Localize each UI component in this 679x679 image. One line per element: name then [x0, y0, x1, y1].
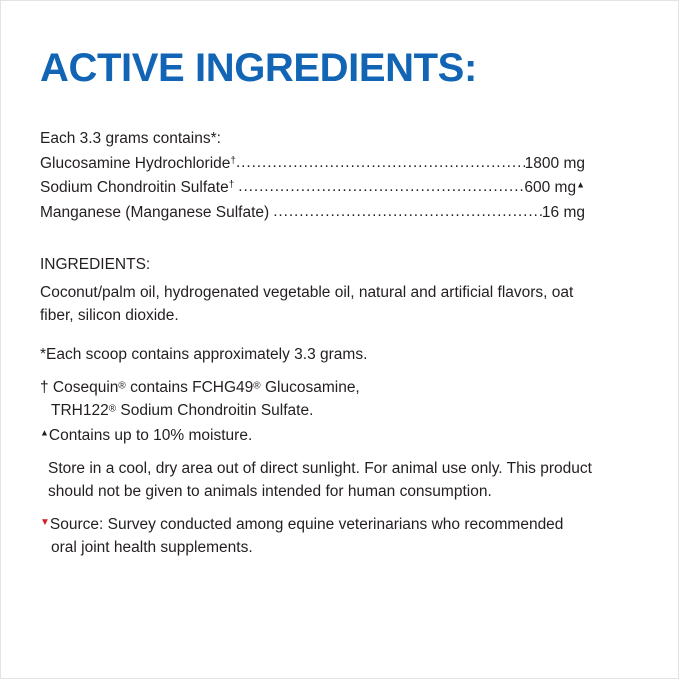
ingredient-amount: 16 mg	[542, 201, 585, 226]
source-footnote: ▼Source: Survey conducted among equine v…	[40, 513, 606, 559]
ingredients-heading: INGREDIENTS:	[40, 253, 610, 276]
footnote-cosequin: † Cosequin® contains FCHG49® Glucosamine…	[40, 376, 610, 422]
ingredient-name: Manganese (Manganese Sulfate)	[40, 201, 269, 226]
registered-icon: ®	[109, 404, 116, 415]
table-row: Sodium Chondroitin Sulfate† ............…	[40, 176, 585, 201]
storage-statement: Store in a cool, dry area out of direct …	[40, 457, 614, 503]
triangle-down-icon: ▼	[40, 517, 50, 528]
footnote-moisture: ▲Contains up to 10% moisture.	[40, 424, 610, 447]
ingredients-body: Coconut/palm oil, hydrogenated vegetable…	[40, 281, 606, 327]
product-label-panel: ACTIVE INGREDIENTS: Each 3.3 grams conta…	[0, 0, 679, 679]
ingredient-amount: 600 mg▲	[524, 176, 585, 201]
triangle-up-icon: ▲	[576, 180, 585, 190]
dot-leader: ........................................…	[236, 151, 525, 176]
source-footnote-line1: ▼Source: Survey conducted among equine v…	[40, 513, 606, 536]
table-row: Glucosamine Hydrochloride† .............…	[40, 152, 585, 177]
active-ingredients-intro: Each 3.3 grams contains*:	[40, 127, 585, 152]
ingredient-name: Sodium Chondroitin Sulfate†	[40, 176, 234, 201]
active-ingredients-table: Each 3.3 grams contains*: Glucosamine Hy…	[40, 127, 585, 225]
registered-icon: ®	[253, 381, 260, 392]
page-title: ACTIVE INGREDIENTS:	[40, 46, 477, 90]
footnote-cosequin-line1: † Cosequin® contains FCHG49® Glucosamine…	[40, 376, 610, 399]
ingredients-section: INGREDIENTS: Coconut/palm oil, hydrogena…	[40, 253, 610, 327]
triangle-up-icon: ▲	[40, 428, 49, 438]
footnote-moisture-text: Contains up to 10% moisture.	[49, 427, 252, 444]
registered-icon: ®	[118, 381, 125, 392]
dot-leader: ........................................…	[234, 175, 524, 200]
ingredient-amount: 1800 mg	[525, 152, 585, 177]
footnote-scoop: *Each scoop contains approximately 3.3 g…	[40, 343, 610, 366]
footnote-cosequin-line2: TRH122® Sodium Chondroitin Sulfate.	[40, 399, 610, 422]
source-footnote-line2: oral joint health supplements.	[40, 536, 606, 559]
dot-leader: ........................................…	[269, 200, 542, 225]
ingredient-name: Glucosamine Hydrochloride†	[40, 152, 236, 177]
table-row: Manganese (Manganese Sulfate) ..........…	[40, 201, 585, 226]
